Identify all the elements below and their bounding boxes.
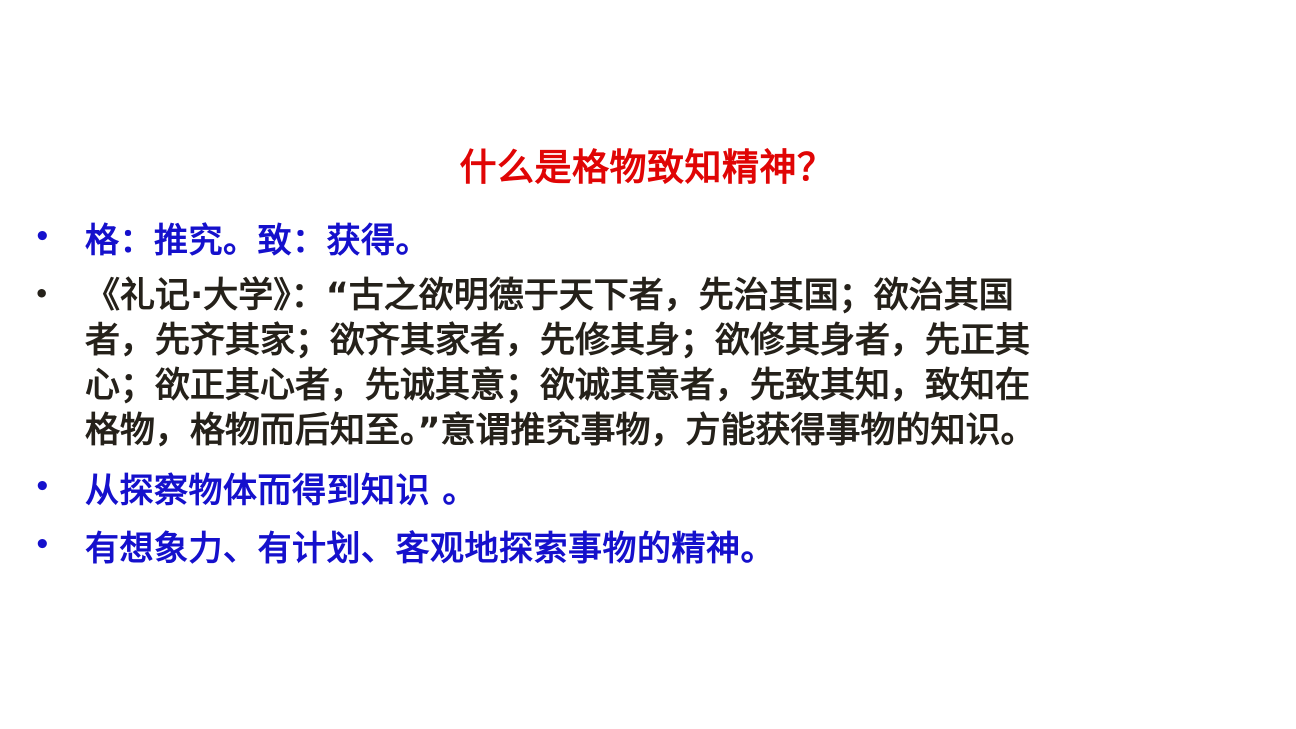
bullet-item-observe-object: • 从探察物体而得到知识 。	[0, 468, 1296, 514]
slide-body: • 格：推究。致：获得。 • 《礼记·大学》：“古之欲明德于天下者，先治其国；欲…	[0, 218, 1296, 572]
page-title: 什么是格物致知精神？	[0, 146, 1296, 190]
quote-line-1: 《礼记·大学》：“古之欲明德于天下者，先治其国；欲治其国	[85, 274, 1266, 319]
bullet-point-icon: •	[34, 474, 54, 500]
quote-line-4: 格物，格物而后知至。”意谓推究事物，方能获得事物的知识。	[85, 409, 1266, 454]
bullet-point-icon: •	[34, 532, 54, 558]
bullet-text-observe-object: 从探察物体而得到知识 。	[85, 468, 1266, 514]
bullet-point-icon: •	[34, 282, 54, 306]
bullet-item-definition: • 格：推究。致：获得。	[0, 218, 1296, 264]
bullet-point-icon: •	[34, 224, 54, 250]
quote-line-2: 者，先齐其家；欲齐其家者，先修其身；欲修其身者，先正其	[85, 319, 1266, 364]
quote-line-3: 心；欲正其心者，先诚其意；欲诚其意者，先致其知，致知在	[85, 364, 1266, 409]
slide-canvas: 什么是格物致知精神？ • 格：推究。致：获得。 • 《礼记·大学》：“古之欲明德…	[0, 0, 1296, 729]
bullet-text-spirit: 有想象力、有计划、客观地探索事物的精神。	[85, 526, 1266, 572]
bullet-item-liji-quote: • 《礼记·大学》：“古之欲明德于天下者，先治其国；欲治其国 者，先齐其家；欲齐…	[0, 274, 1296, 454]
bullet-text-definition: 格：推究。致：获得。	[85, 218, 1266, 264]
page-title-text: 什么是格物致知精神？	[460, 146, 835, 190]
bullet-item-spirit: • 有想象力、有计划、客观地探索事物的精神。	[0, 526, 1296, 572]
bullet-text-liji-quote: 《礼记·大学》：“古之欲明德于天下者，先治其国；欲治其国 者，先齐其家；欲齐其家…	[85, 274, 1266, 454]
